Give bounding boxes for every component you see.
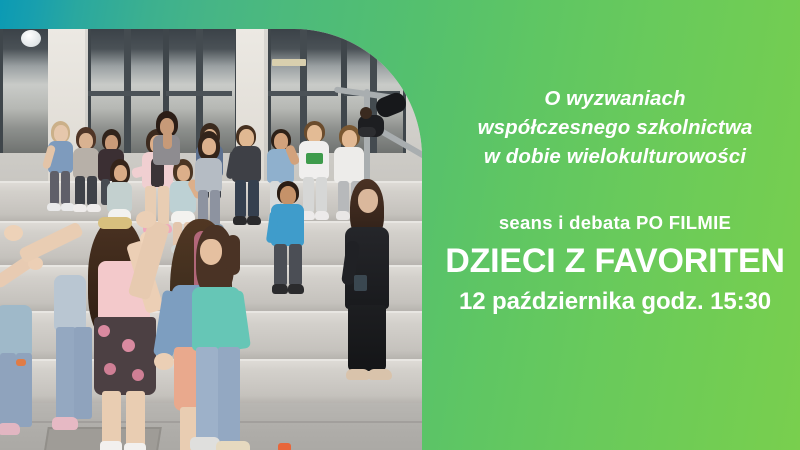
foreground-child xyxy=(38,245,98,450)
cone-marker xyxy=(278,443,291,450)
cone-marker xyxy=(16,359,26,366)
seated-child xyxy=(150,111,184,171)
window-transom xyxy=(268,91,338,96)
legs xyxy=(348,305,386,371)
child-on-railing xyxy=(358,91,414,141)
text-column: O wyzwaniach współczesnego szkolnictwa w… xyxy=(430,0,800,450)
face xyxy=(358,189,378,213)
window-transom xyxy=(166,91,232,96)
teacher-with-phone xyxy=(336,179,406,384)
face xyxy=(200,239,222,265)
event-datetime: 12 października godz. 15:30 xyxy=(459,288,771,316)
hair-accessory xyxy=(98,217,132,229)
phone-icon xyxy=(354,275,367,291)
subject-line-2: współczesnego szkolnictwa xyxy=(450,113,780,142)
shoe xyxy=(346,369,370,380)
schoolyard-photo xyxy=(0,29,422,450)
door-sign xyxy=(272,59,306,66)
poster: O wyzwaniach współczesnego szkolnictwa w… xyxy=(0,0,800,450)
shoe xyxy=(368,369,392,380)
subject-line-3: w dobie wielokulturowości xyxy=(450,142,780,171)
wall-lamp-icon xyxy=(21,30,41,47)
subject-line-1: O wyzwaniach xyxy=(450,84,780,113)
foreground-child xyxy=(182,225,266,450)
subject-heading: O wyzwaniach współczesnego szkolnictwa w… xyxy=(450,84,780,171)
window-transom xyxy=(88,91,160,96)
event-kicker: seans i debata PO FILMIE xyxy=(499,212,731,234)
photo-panel xyxy=(0,29,422,450)
ponytail xyxy=(226,235,240,275)
seated-child xyxy=(268,181,308,303)
event-title: DZIECI Z FAVORITEN xyxy=(445,242,785,281)
foreground-child xyxy=(0,265,42,450)
